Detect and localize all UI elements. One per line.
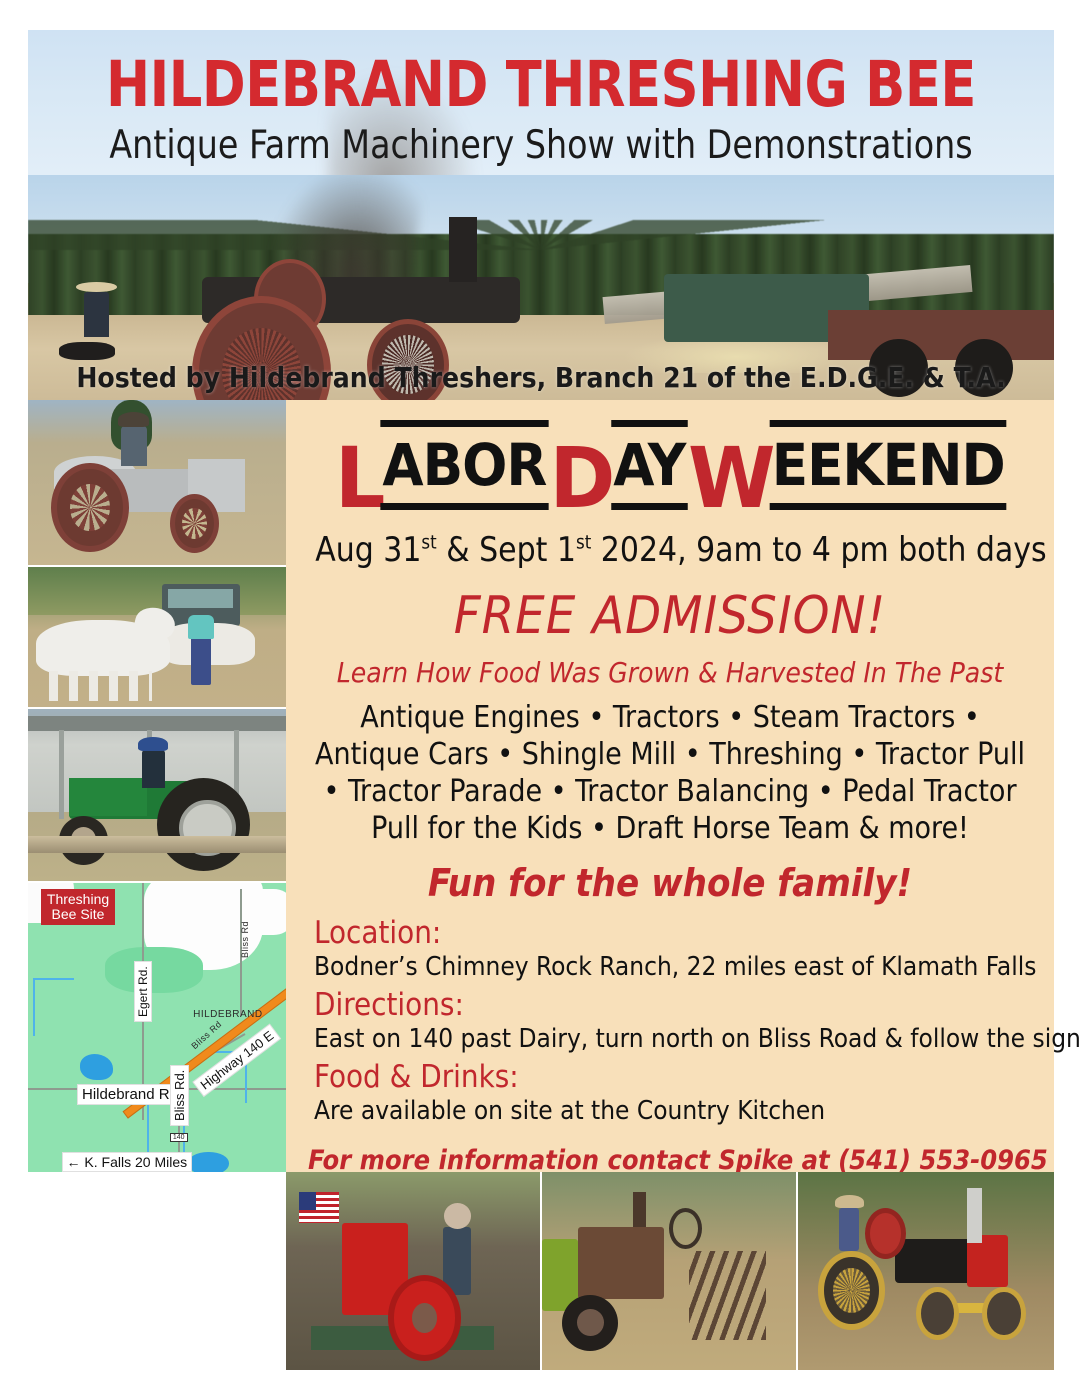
banner-dropcap-d: D: [549, 440, 613, 516]
photo-cultivator-implement: [689, 1251, 765, 1340]
map-label-threshing-bee-site: Threshing Bee Site: [41, 889, 115, 925]
dateline-sup-2: st: [576, 532, 591, 554]
photo-engine-driver: [839, 1208, 859, 1252]
banner-rest-weekend: EEKEND: [769, 420, 1006, 510]
map-lake: [188, 1152, 229, 1172]
photo-engine-smokestack: [449, 217, 477, 281]
photo-horse-legs: [49, 671, 152, 702]
photo-shed-post: [59, 730, 64, 819]
map-stream: [33, 978, 74, 980]
main-photo-steam-engine: Hosted by Hildebrand Threshers, Branch 2…: [28, 175, 1054, 400]
banner-rest-labor: ABOR: [380, 420, 548, 510]
photo-shed-roof: [28, 716, 286, 731]
banner-word-day: DAY: [551, 420, 686, 516]
photo-dog: [59, 342, 115, 360]
photo-green-tractor-hood: [69, 778, 146, 816]
photo-trailer: [828, 310, 1054, 360]
map-site-line1: Threshing: [47, 891, 109, 907]
free-admission-headline: FREE ADMISSION!: [308, 586, 1032, 646]
banner-dropcap-w: W: [688, 440, 773, 516]
left-photo-column: 140 Threshing Bee Site Egert Rd. HILDEBR…: [28, 400, 286, 1172]
photo-steam-engine: [131, 265, 644, 369]
photo-rusty-tractor-wheel: [562, 1295, 618, 1351]
directions-text: East on 140 past Dairy, turn north on Bl…: [314, 1023, 1032, 1055]
photo-person: [84, 292, 109, 337]
banner-line: LABORDAYWEEKEND: [308, 420, 1032, 516]
info-panel: LABORDAYWEEKEND Aug 31st & Sept 1st 2024…: [286, 400, 1054, 1172]
fun-for-family-line: Fun for the whole family!: [308, 861, 1032, 905]
map-site-line2: Bee Site: [52, 906, 105, 922]
labor-day-weekend-banner: LABORDAYWEEKEND: [308, 420, 1032, 524]
banner-word-labor: LABOR: [336, 420, 547, 516]
photo-green-tractor-driver: [142, 750, 165, 788]
header-band: HILDEBRAND THRESHING BEE Antique Farm Ma…: [28, 30, 1054, 175]
map-stream: [33, 978, 35, 1036]
location-heading: Location:: [314, 915, 1032, 951]
hosted-by-line: Hosted by Hildebrand Threshers, Branch 2…: [28, 361, 1054, 394]
photo-green-tractor-balancing: [28, 709, 286, 881]
dateline-sup-1: st: [421, 532, 436, 554]
photo-rusty-tractor-cultivator: [542, 1172, 796, 1370]
map-route-shield: 140: [170, 1133, 188, 1142]
photo-tractor-driver: [121, 426, 147, 466]
photo-engine-front-wheel-left: [916, 1287, 960, 1341]
map-label-egert-rd: Egert Rd.: [134, 961, 152, 1022]
banner-rest-day: AY: [611, 420, 687, 510]
page-subtitle: Antique Farm Machinery Show with Demonst…: [54, 123, 1029, 168]
photo-tractor-rear-wheel: [51, 463, 128, 552]
photo-engine-flywheel: [388, 1275, 462, 1361]
event-dateline: Aug 31st & Sept 1st 2024, 9am to 4 pm bo…: [315, 530, 1025, 570]
location-text: Bodner’s Chimney Rock Ranch, 22 miles ea…: [314, 951, 1032, 983]
map-label-bliss-rd: Bliss Rd.: [170, 1064, 189, 1125]
photo-balancing-platform: [28, 836, 286, 853]
map-label-bliss-rd-vertical: Bliss Rd: [240, 921, 250, 958]
photo-horse-handler: [191, 637, 212, 685]
photo-engine-rear-wheel: [818, 1251, 885, 1330]
photo-engine-flywheel: [865, 1208, 906, 1259]
flyer-page: HILDEBRAND THRESHING BEE Antique Farm Ma…: [0, 0, 1082, 1400]
photo-engine-front-wheel-right: [982, 1287, 1026, 1341]
photo-steering-wheel: [669, 1208, 702, 1249]
photo-engine-smokestack: [967, 1188, 982, 1243]
directions-heading: Directions:: [314, 987, 1032, 1023]
photo-horse-first: [36, 620, 170, 676]
food-heading: Food & Drinks:: [314, 1059, 1032, 1095]
photo-tractor-front-wheel: [170, 494, 219, 553]
dateline-suffix: 2024, 9am to 4 pm both days: [591, 530, 1046, 570]
map-label-hildebrand-town: HILDEBRAND: [193, 1009, 262, 1020]
photo-red-stationary-engine: [286, 1172, 540, 1370]
photo-grey-fordson-tractor: [28, 400, 286, 565]
photo-rusty-tractor-body: [578, 1227, 664, 1298]
map-label-kfalls-distance: ← K. Falls 20 Miles: [62, 1152, 193, 1172]
location-map[interactable]: 140 Threshing Bee Site Egert Rd. HILDEBR…: [28, 883, 286, 1172]
page-title: HILDEBRAND THRESHING BEE: [64, 48, 1018, 121]
photo-steam-traction-engine-gold-wheels: [798, 1172, 1054, 1370]
map-lake: [80, 1054, 114, 1080]
activities-list: Antique Engines • Tractors • Steam Tract…: [308, 699, 1032, 847]
dateline-prefix: Aug 31: [315, 530, 421, 570]
photo-american-flag: [299, 1192, 340, 1224]
photo-green-tractor-rear-wheel: [157, 778, 250, 871]
banner-word-weekend: WEEKEND: [690, 420, 1004, 516]
banner-dropcap-l: L: [335, 440, 383, 516]
learn-tagline: Learn How Food Was Grown & Harvested In …: [308, 656, 1032, 689]
photo-draft-horses: [28, 567, 286, 707]
bottom-photo-strip: [286, 1172, 1054, 1370]
dateline-middle: & Sept 1: [437, 530, 576, 570]
info-details: Location: Bodner’s Chimney Rock Ranch, 2…: [308, 915, 1032, 1127]
food-text: Are available on site at the Country Kit…: [314, 1095, 1032, 1127]
map-terrain-patch: [105, 947, 203, 993]
